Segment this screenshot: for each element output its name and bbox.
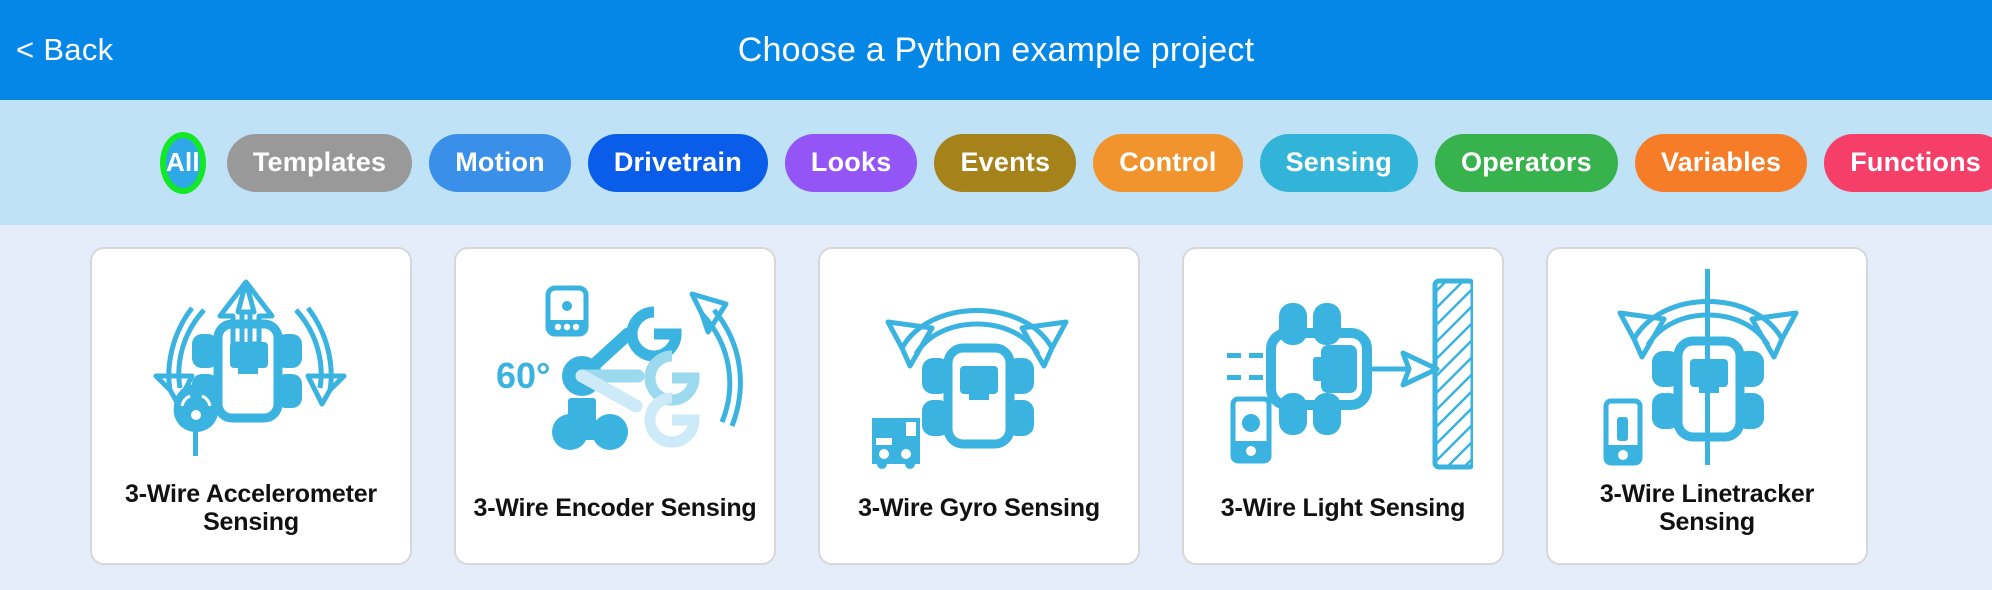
filter-chip-templates[interactable]: Templates: [227, 134, 412, 192]
project-card-gyro[interactable]: 3-Wire Gyro Sensing: [818, 247, 1140, 565]
filter-chip-label: Operators: [1461, 147, 1592, 178]
filter-chip-functions[interactable]: Functions: [1824, 134, 1992, 192]
category-filter-bar: All Templates Motion Drivetrain Looks Ev…: [0, 100, 1992, 225]
card-title: 3-Wire Gyro Sensing: [820, 494, 1138, 563]
card-artwork: 60°: [456, 249, 774, 494]
card-artwork: [1548, 249, 1866, 480]
filter-chip-looks[interactable]: Looks: [785, 134, 918, 192]
filter-chip-control[interactable]: Control: [1093, 134, 1242, 192]
filter-chip-label: Variables: [1661, 147, 1781, 178]
project-card-light[interactable]: 3-Wire Light Sensing: [1182, 247, 1504, 565]
card-title: 3-Wire Light Sensing: [1184, 494, 1502, 563]
filter-chip-label: Events: [960, 147, 1050, 178]
filter-chip-label: Sensing: [1286, 147, 1392, 178]
project-card-encoder[interactable]: 60°: [454, 247, 776, 565]
filter-chip-label: Control: [1119, 147, 1216, 178]
filter-chip-label: Motion: [455, 147, 545, 178]
card-artwork: [820, 249, 1138, 494]
card-title: 3-Wire Linetracker Sensing: [1548, 480, 1866, 564]
example-project-grid: 3-Wire Accelerometer Sensing 60°: [0, 225, 1992, 590]
card-title: 3-Wire Accelerometer Sensing: [92, 480, 410, 564]
filter-chip-events[interactable]: Events: [934, 134, 1076, 192]
filter-chip-label: Drivetrain: [614, 147, 742, 178]
gyro-icon: [854, 280, 1104, 470]
filter-chip-label: Functions: [1850, 147, 1981, 178]
page-title: Choose a Python example project: [0, 31, 1992, 70]
card-artwork: [92, 249, 410, 480]
svg-text:60°: 60°: [496, 355, 550, 396]
filter-chip-sensing[interactable]: Sensing: [1260, 134, 1418, 192]
filter-chip-all[interactable]: All: [160, 132, 206, 194]
project-card-accelerometer[interactable]: 3-Wire Accelerometer Sensing: [90, 247, 412, 565]
filter-chip-motion[interactable]: Motion: [429, 134, 571, 192]
filter-chip-label: Looks: [811, 147, 892, 178]
filter-chip-label: All: [166, 147, 200, 178]
project-card-linetracker[interactable]: 3-Wire Linetracker Sensing: [1546, 247, 1868, 565]
filter-chip-variables[interactable]: Variables: [1635, 134, 1807, 192]
card-artwork: [1184, 249, 1502, 494]
filter-chip-drivetrain[interactable]: Drivetrain: [588, 134, 768, 192]
accelerometer-icon: [126, 272, 376, 462]
filter-chip-label: Templates: [253, 147, 386, 178]
card-title: 3-Wire Encoder Sensing: [456, 494, 774, 563]
app-header: < Back Choose a Python example project: [0, 0, 1992, 100]
linetracker-icon: [1582, 267, 1832, 467]
filter-chip-operators[interactable]: Operators: [1435, 134, 1618, 192]
back-button[interactable]: < Back: [16, 32, 113, 68]
encoder-icon: 60°: [486, 280, 744, 470]
light-sensor-icon: [1213, 275, 1473, 475]
